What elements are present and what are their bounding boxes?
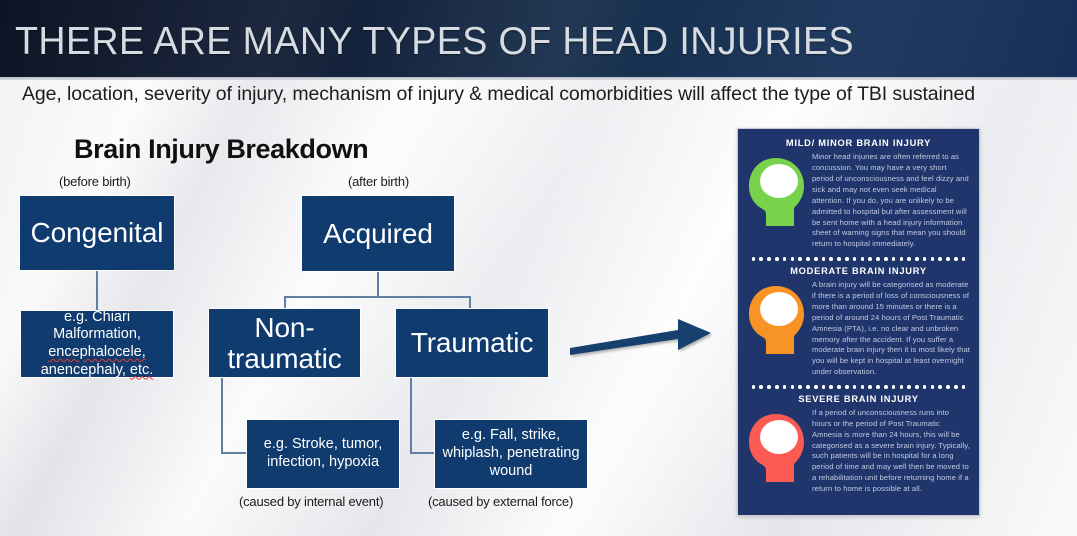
caption-internal-event: (caused by internal event) bbox=[239, 494, 383, 509]
connector-nontraumatic-stem bbox=[221, 378, 223, 453]
divider-dot bbox=[876, 385, 880, 389]
divider-dot bbox=[759, 257, 763, 261]
divider-dot bbox=[892, 385, 896, 389]
divider-dot bbox=[806, 257, 810, 261]
box-acquired-label: Acquired bbox=[323, 218, 433, 249]
divider-dot bbox=[954, 257, 958, 261]
divider-dot bbox=[814, 257, 818, 261]
section-title-moderate: MODERATE BRAIN INJURY bbox=[738, 266, 979, 276]
infographic-section-mild: MILD/ MINOR BRAIN INJURY Minor head inju… bbox=[738, 129, 979, 261]
divider-dot bbox=[907, 385, 911, 389]
connector-congenital-to-examples bbox=[96, 270, 98, 310]
divider-dot bbox=[938, 257, 942, 261]
caption-after-birth: (after birth) bbox=[348, 174, 409, 189]
box-traumatic-examples[interactable]: e.g. Fall, strike, whiplash, penetrating… bbox=[434, 419, 588, 489]
divider-dot bbox=[752, 257, 756, 261]
divider-dot bbox=[954, 385, 958, 389]
slide-title-bar: THERE ARE MANY TYPES OF HEAD INJURIES bbox=[0, 0, 1077, 77]
divider-dot bbox=[923, 385, 927, 389]
connector-acquired-split-bar bbox=[284, 296, 470, 298]
divider-dot bbox=[853, 385, 857, 389]
connector-acquired-stem bbox=[377, 271, 379, 297]
non-traumatic-line2: traumatic bbox=[227, 343, 341, 374]
congenital-ex-line4b: etc. bbox=[130, 362, 153, 378]
box-traumatic-label: Traumatic bbox=[411, 327, 534, 358]
head-profile-icon-moderate bbox=[746, 284, 808, 356]
congenital-ex-line2: Malformation, bbox=[53, 326, 141, 342]
box-congenital-label: Congenital bbox=[31, 217, 164, 248]
section-title-severe: SEVERE BRAIN INJURY bbox=[738, 394, 979, 404]
divider-dot bbox=[752, 385, 756, 389]
divider-dot bbox=[915, 385, 919, 389]
divider-dot bbox=[775, 385, 779, 389]
traumatic-ex-line2: whiplash, penetrating bbox=[442, 445, 579, 461]
congenital-ex-line1: e.g. Chiari bbox=[64, 309, 130, 325]
page-title: THERE ARE MANY TYPES OF HEAD INJURIES bbox=[15, 20, 854, 64]
traumatic-ex-line3: wound bbox=[490, 463, 533, 479]
brain-injury-severity-infographic: MILD/ MINOR BRAIN INJURY Minor head inju… bbox=[737, 128, 980, 516]
divider-dot bbox=[837, 257, 841, 261]
divider-dot bbox=[845, 257, 849, 261]
title-bar-underline bbox=[0, 77, 1077, 80]
section-body-moderate: A brain injury will be categorised as mo… bbox=[808, 280, 970, 378]
section-title-mild: MILD/ MINOR BRAIN INJURY bbox=[738, 138, 979, 148]
infographic-section-severe: SEVERE BRAIN INJURY If a period of uncon… bbox=[738, 394, 979, 495]
slide-subtitle: Age, location, severity of injury, mecha… bbox=[22, 83, 1062, 106]
divider-dot bbox=[884, 257, 888, 261]
box-congenital[interactable]: Congenital bbox=[19, 195, 175, 271]
box-congenital-examples-text: e.g. Chiari Malformation, encephalocele,… bbox=[41, 309, 154, 380]
divider-dot bbox=[931, 385, 935, 389]
section-body-severe: If a period of unconsciousness runs into… bbox=[808, 408, 970, 495]
box-non-traumatic-label: Non- traumatic bbox=[227, 312, 341, 375]
divider-dot bbox=[892, 257, 896, 261]
box-non-traumatic-examples-text: e.g. Stroke, tumor, infection, hypoxia bbox=[264, 436, 382, 471]
divider-dot bbox=[923, 257, 927, 261]
caption-before-birth: (before birth) bbox=[59, 174, 131, 189]
infographic-section-moderate: MODERATE BRAIN INJURY A brain injury wil… bbox=[738, 266, 979, 389]
box-traumatic-examples-text: e.g. Fall, strike, whiplash, penetrating… bbox=[442, 427, 579, 480]
divider-dot bbox=[900, 385, 904, 389]
divider-dot bbox=[962, 257, 966, 261]
box-traumatic[interactable]: Traumatic bbox=[395, 308, 549, 378]
box-non-traumatic-examples[interactable]: e.g. Stroke, tumor, infection, hypoxia bbox=[246, 419, 400, 489]
divider-dot bbox=[946, 257, 950, 261]
box-non-traumatic[interactable]: Non- traumatic bbox=[208, 308, 361, 378]
connector-traumatic-stem bbox=[410, 378, 412, 453]
divider-dot bbox=[791, 257, 795, 261]
box-acquired[interactable]: Acquired bbox=[301, 195, 455, 272]
divider-dot bbox=[837, 385, 841, 389]
divider-dot bbox=[783, 257, 787, 261]
non-traumatic-line1: Non- bbox=[254, 312, 314, 343]
divider-dot bbox=[775, 257, 779, 261]
nontraumatic-ex-line2: infection, hypoxia bbox=[267, 454, 379, 470]
divider-dot bbox=[791, 385, 795, 389]
divider-dot bbox=[915, 257, 919, 261]
divider-dot bbox=[829, 385, 833, 389]
slide-canvas: THERE ARE MANY TYPES OF HEAD INJURIES Ag… bbox=[0, 0, 1077, 536]
divider-dots-1 bbox=[738, 257, 979, 261]
divider-dot bbox=[868, 385, 872, 389]
divider-dot bbox=[876, 257, 880, 261]
divider-dot bbox=[938, 385, 942, 389]
divider-dot bbox=[900, 257, 904, 261]
divider-dot bbox=[798, 257, 802, 261]
divider-dot bbox=[806, 385, 810, 389]
divider-dot bbox=[822, 257, 826, 261]
divider-dot bbox=[814, 385, 818, 389]
divider-dot bbox=[907, 257, 911, 261]
right-arrow-icon bbox=[568, 312, 713, 358]
divider-dot bbox=[861, 257, 865, 261]
divider-dot bbox=[962, 385, 966, 389]
section-body-mild: Minor head injuries are often referred t… bbox=[808, 152, 970, 250]
diagram-heading: Brain Injury Breakdown bbox=[74, 134, 368, 165]
divider-dot bbox=[783, 385, 787, 389]
divider-dots-2 bbox=[738, 385, 979, 389]
head-profile-icon-severe bbox=[746, 412, 808, 484]
box-congenital-examples[interactable]: e.g. Chiari Malformation, encephalocele,… bbox=[20, 310, 174, 378]
divider-dot bbox=[845, 385, 849, 389]
congenital-ex-line3: encephalocele, bbox=[48, 344, 146, 360]
traumatic-ex-line1: e.g. Fall, strike, bbox=[462, 427, 560, 443]
divider-dot bbox=[853, 257, 857, 261]
divider-dot bbox=[822, 385, 826, 389]
nontraumatic-ex-line1: e.g. Stroke, tumor, bbox=[264, 436, 382, 452]
divider-dot bbox=[759, 385, 763, 389]
connector-traumatic-elbow bbox=[410, 452, 435, 454]
divider-dot bbox=[767, 257, 771, 261]
divider-dot bbox=[931, 257, 935, 261]
congenital-ex-line4a: anencephaly, bbox=[41, 362, 130, 378]
divider-dot bbox=[946, 385, 950, 389]
head-profile-icon-mild bbox=[746, 156, 808, 228]
divider-dot bbox=[829, 257, 833, 261]
divider-dot bbox=[884, 385, 888, 389]
divider-dot bbox=[868, 257, 872, 261]
connector-nontraumatic-elbow bbox=[221, 452, 246, 454]
divider-dot bbox=[767, 385, 771, 389]
divider-dot bbox=[861, 385, 865, 389]
caption-external-force: (caused by external force) bbox=[428, 494, 573, 509]
divider-dot bbox=[798, 385, 802, 389]
